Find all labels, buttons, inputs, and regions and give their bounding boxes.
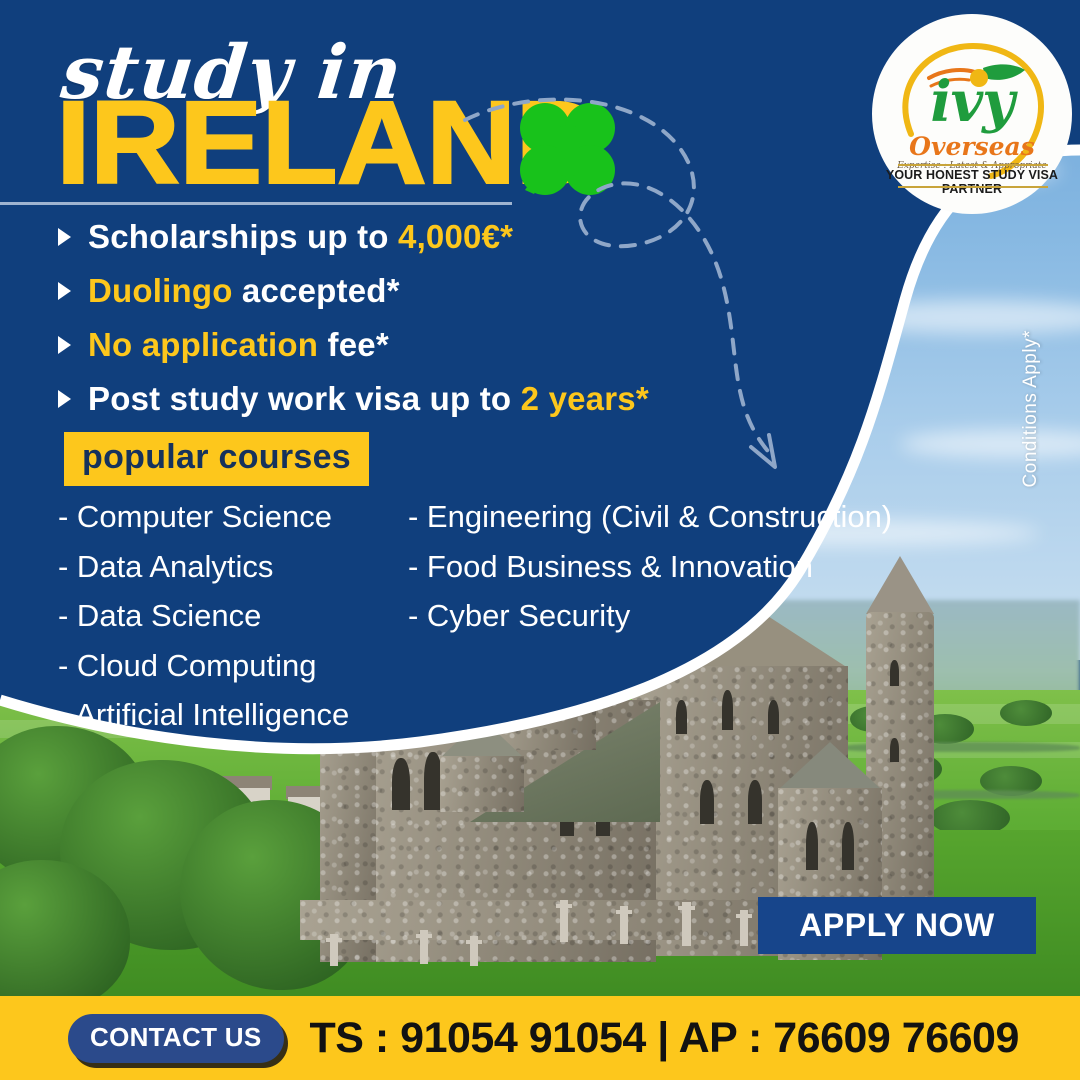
bullet-highlight: No application — [88, 326, 318, 364]
bullet-highlight: Duolingo — [88, 272, 233, 310]
list-item: Duolingo accepted* — [58, 266, 758, 316]
list-item: No application fee* — [58, 320, 758, 370]
contact-footer-bar: CONTACT US TS : 91054 91054 | AP : 76609… — [0, 996, 1080, 1080]
logo-wordmark: ivy — [887, 74, 1057, 130]
list-item: - Artificial Intelligence — [58, 690, 418, 740]
courses-column-left: - Computer Science - Data Analytics - Da… — [58, 492, 418, 740]
apply-now-button[interactable]: APPLY NOW — [758, 897, 1036, 954]
popular-courses-badge: popular courses — [64, 432, 369, 486]
bullet-highlight: 2 years* — [521, 380, 649, 418]
list-item: - Data Analytics — [58, 542, 418, 592]
list-item: - Cyber Security — [408, 591, 928, 641]
phone-numbers[interactable]: TS : 91054 91054 | AP : 76609 76609 — [310, 1014, 1019, 1063]
list-item: - Engineering (Civil & Construction) — [408, 492, 928, 542]
bullet-pre: Post study work visa up to — [88, 380, 521, 418]
poster-canvas: study in IRELAND Scholarships up to 4,00… — [0, 0, 1080, 1080]
courses-column-right: - Engineering (Civil & Construction) - F… — [408, 492, 928, 641]
list-item: - Computer Science — [58, 492, 418, 542]
bullet-arrow-icon — [58, 390, 71, 408]
list-item: - Data Science — [58, 591, 418, 641]
benefits-list: Scholarships up to 4,000€* Duolingo acce… — [58, 212, 758, 428]
logo-banner-rule-top — [898, 164, 1048, 166]
bullet-highlight: 4,000€* — [398, 218, 513, 256]
bullet-post: accepted* — [233, 272, 400, 310]
list-item: Scholarships up to 4,000€* — [58, 212, 758, 262]
list-item: - Cloud Computing — [58, 641, 418, 691]
bullet-arrow-icon — [58, 282, 71, 300]
logo-banner-rule-bottom — [898, 186, 1048, 188]
bullet-arrow-icon — [58, 336, 71, 354]
list-item: Post study work visa up to 2 years* — [58, 374, 758, 424]
logo-subtitle: Overseas — [887, 134, 1057, 159]
bullet-pre: Scholarships up to — [88, 218, 398, 256]
bullet-post: fee* — [318, 326, 389, 364]
bullet-arrow-icon — [58, 228, 71, 246]
conditions-apply-note: Conditions Apply* — [1020, 330, 1042, 487]
logo-banner-text: YOUR HONEST STUDY VISA PARTNER — [872, 168, 1072, 196]
list-item: - Food Business & Innovation — [408, 542, 928, 592]
contact-us-badge: CONTACT US — [68, 1014, 284, 1063]
